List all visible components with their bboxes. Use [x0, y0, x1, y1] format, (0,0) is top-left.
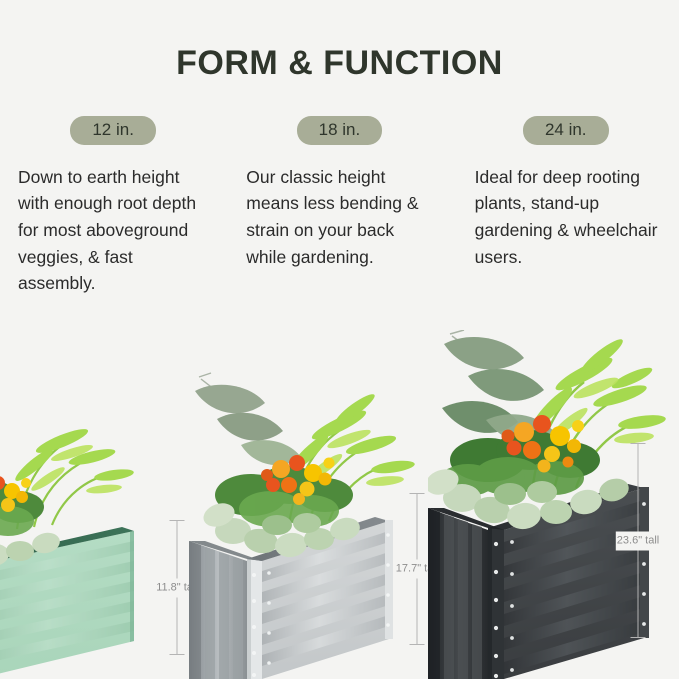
feature-description-24in: Ideal for deep rooting plants, stand-up …: [467, 164, 665, 270]
feature-column-18in: 18 in. Our classic height means less ben…: [226, 116, 452, 356]
badge-wrap-18in: 18 in.: [240, 116, 438, 145]
planter-illustration-12in: [0, 379, 172, 679]
product-images: 11.8" tall: [0, 330, 679, 679]
product-12in: [0, 379, 172, 679]
dimension-cap-top-24in: [631, 443, 646, 444]
badge-wrap-12in: 12 in.: [14, 116, 212, 145]
height-badge-12in: 12 in.: [70, 116, 156, 145]
feature-column-24in: 24 in. Ideal for deep rooting plants, st…: [453, 116, 679, 356]
feature-description-18in: Our classic height means less bending & …: [240, 164, 438, 270]
product-18in: [189, 349, 419, 679]
dimension-24in: 23.6" tall: [617, 443, 659, 638]
height-badge-18in: 18 in.: [297, 116, 383, 145]
feature-columns: 12 in. Down to earth height with enough …: [0, 116, 679, 356]
dimension-label-24in: 23.6" tall: [616, 531, 660, 550]
dimension-cap-bottom-24in: [631, 637, 646, 638]
badge-wrap-24in: 24 in.: [467, 116, 665, 145]
page-title: FORM & FUNCTION: [0, 44, 679, 83]
dimension-cap-top-18in: [410, 493, 425, 494]
planter-end-face-24in: [428, 508, 488, 679]
feature-description-12in: Down to earth height with enough root de…: [14, 164, 212, 297]
planter-illustration-18in: [189, 349, 419, 679]
dimension-cap-bottom-18in: [410, 644, 425, 645]
dimension-cap-top-12in: [170, 520, 185, 521]
height-badge-24in: 24 in.: [523, 116, 609, 145]
broad-leaf-24in: [444, 337, 524, 370]
planter-end-face-18in: [189, 541, 247, 679]
feature-column-12in: 12 in. Down to earth height with enough …: [0, 116, 226, 356]
broad-leaf-18in: [195, 385, 265, 413]
product-feature-panel: FORM & FUNCTION 12 in. Down to earth hei…: [0, 0, 679, 679]
dimension-cap-bottom-12in: [170, 654, 185, 655]
